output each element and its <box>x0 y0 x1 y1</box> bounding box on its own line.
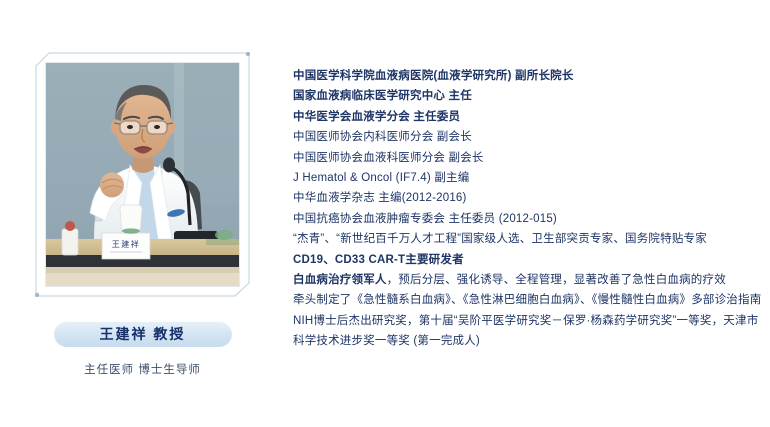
doctor-portrait-photo: 王建祥 <box>46 63 239 286</box>
list-item: 中国医师协会血液科医师分会 副会长 <box>293 148 761 168</box>
bio-right-column: 中国医学科学院血液病医院(血液学研究所) 副所长院长 国家血液病临床医学研究中心… <box>285 0 770 427</box>
portrait-frame: 王建祥 <box>35 52 250 297</box>
credentials-list: 中国医学科学院血液病医院(血液学研究所) 副所长院长 国家血液病临床医学研究中心… <box>293 66 761 352</box>
list-item: 中华医学会血液学分会 主任委员 <box>293 107 761 127</box>
highlight-rest-text: ，预后分层、强化诱导、全程管理，显著改善了急性白血病的疗效 <box>387 274 726 286</box>
svg-text:王建祥: 王建祥 <box>112 239 141 249</box>
doctor-name-text: 王建祥 教授 <box>100 324 186 344</box>
achievement-line-guidelines: 牵头制定了《急性髓系白血病》、《急性淋巴细胞白血病》、《慢性髓性白血病》多部诊治… <box>293 290 761 310</box>
list-item: CD19、CD33 CAR-T主要研发者 <box>293 250 761 270</box>
highlight-line: 白血病治疗领军人，预后分层、强化诱导、全程管理，显著改善了急性白血病的疗效 <box>293 270 761 290</box>
list-item: 中国抗癌协会血液肿瘤专委会 主任委员 (2012-015) <box>293 209 761 229</box>
highlight-lead-text: 白血病治疗领军人 <box>293 274 387 286</box>
achievement-line-awards: NIH博士后杰出研究奖，第十届“吴阶平医学研究奖－保罗·杨森药学研究奖”一等奖，… <box>293 311 761 352</box>
profile-left-column: 王建祥 王建祥 教授 主任医师 博士生导师 <box>0 0 285 427</box>
doctor-name-badge: 王建祥 教授 <box>54 321 232 347</box>
list-item: 中国医师协会内科医师分会 副会长 <box>293 127 761 147</box>
list-item: J Hematol & Oncol (IF7.4) 副主编 <box>293 168 761 188</box>
list-item: 中华血液学杂志 主编(2012-2016) <box>293 188 761 208</box>
list-item: 国家血液病临床医学研究中心 主任 <box>293 86 761 106</box>
doctor-title-subtitle: 主任医师 博士生导师 <box>0 361 285 377</box>
list-item: “杰青”、“新世纪百千万人才工程”国家级人选、卫生部突贡专家、国务院特贴专家 <box>293 229 761 249</box>
list-item: 中国医学科学院血液病医院(血液学研究所) 副所长院长 <box>293 66 761 86</box>
doctor-profile-card: 王建祥 王建祥 教授 主任医师 博士生导师 <box>0 0 770 427</box>
